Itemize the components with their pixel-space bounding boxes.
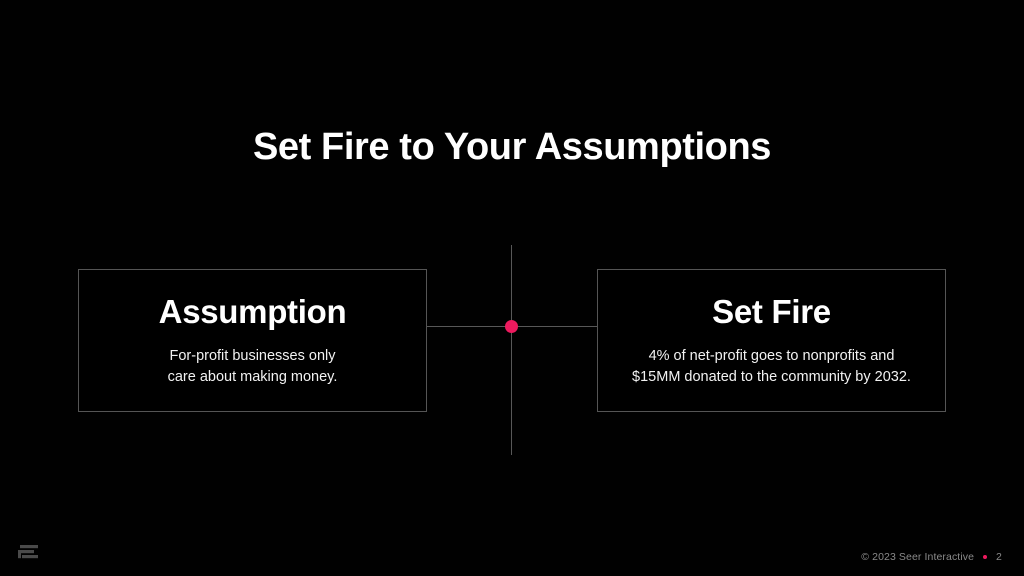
set-fire-card-heading: Set Fire	[712, 294, 831, 330]
footer-bullet-icon	[983, 555, 987, 559]
footer-copyright: © 2023 Seer Interactive	[861, 551, 974, 563]
connector-vertical-line	[511, 245, 512, 455]
connector-center-dot	[505, 320, 518, 333]
slide-footer: © 2023 Seer Interactive 2	[861, 551, 1002, 563]
seer-interactive-logo-icon	[18, 543, 40, 563]
assumption-card-body: For-profit businesses only care about ma…	[168, 346, 338, 387]
footer-page-number: 2	[996, 551, 1002, 563]
assumption-card-heading: Assumption	[159, 294, 347, 330]
set-fire-card: Set Fire 4% of net-profit goes to nonpro…	[597, 269, 946, 412]
presentation-slide: Set Fire to Your Assumptions Assumption …	[0, 0, 1024, 576]
assumption-card: Assumption For-profit businesses only ca…	[78, 269, 427, 412]
set-fire-card-body: 4% of net-profit goes to nonprofits and …	[632, 346, 911, 387]
page-title: Set Fire to Your Assumptions	[0, 126, 1024, 170]
